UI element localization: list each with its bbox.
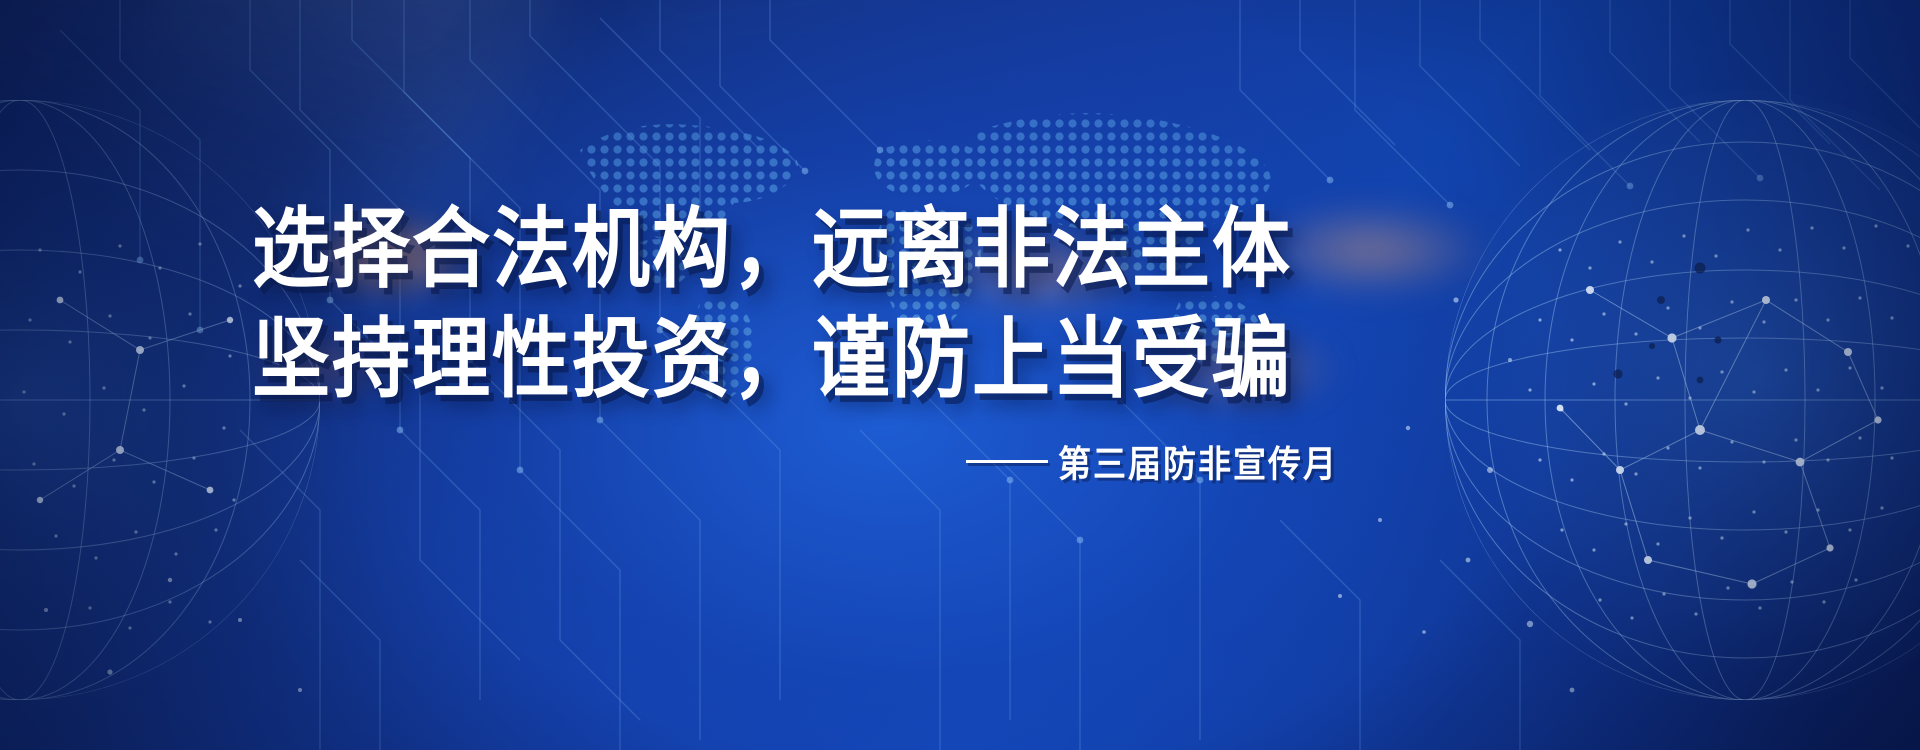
signature-rule-icon (966, 460, 1048, 463)
headline-line-2: 坚持理性投资，谨防上当受骗 (252, 306, 1292, 414)
signature-text: 第三届防非宣传月 (1058, 435, 1338, 488)
headline-line-1: 选择合法机构，远离非法主体 (252, 196, 1292, 304)
headline-block: 选择合法机构，远离非法主体 坚持理性投资，谨防上当受骗 (252, 196, 1292, 402)
promo-banner: 选择合法机构，远离非法主体 坚持理性投资，谨防上当受骗 第三届防非宣传月 (0, 0, 1920, 750)
signature-block: 第三届防非宣传月 (966, 437, 1338, 485)
